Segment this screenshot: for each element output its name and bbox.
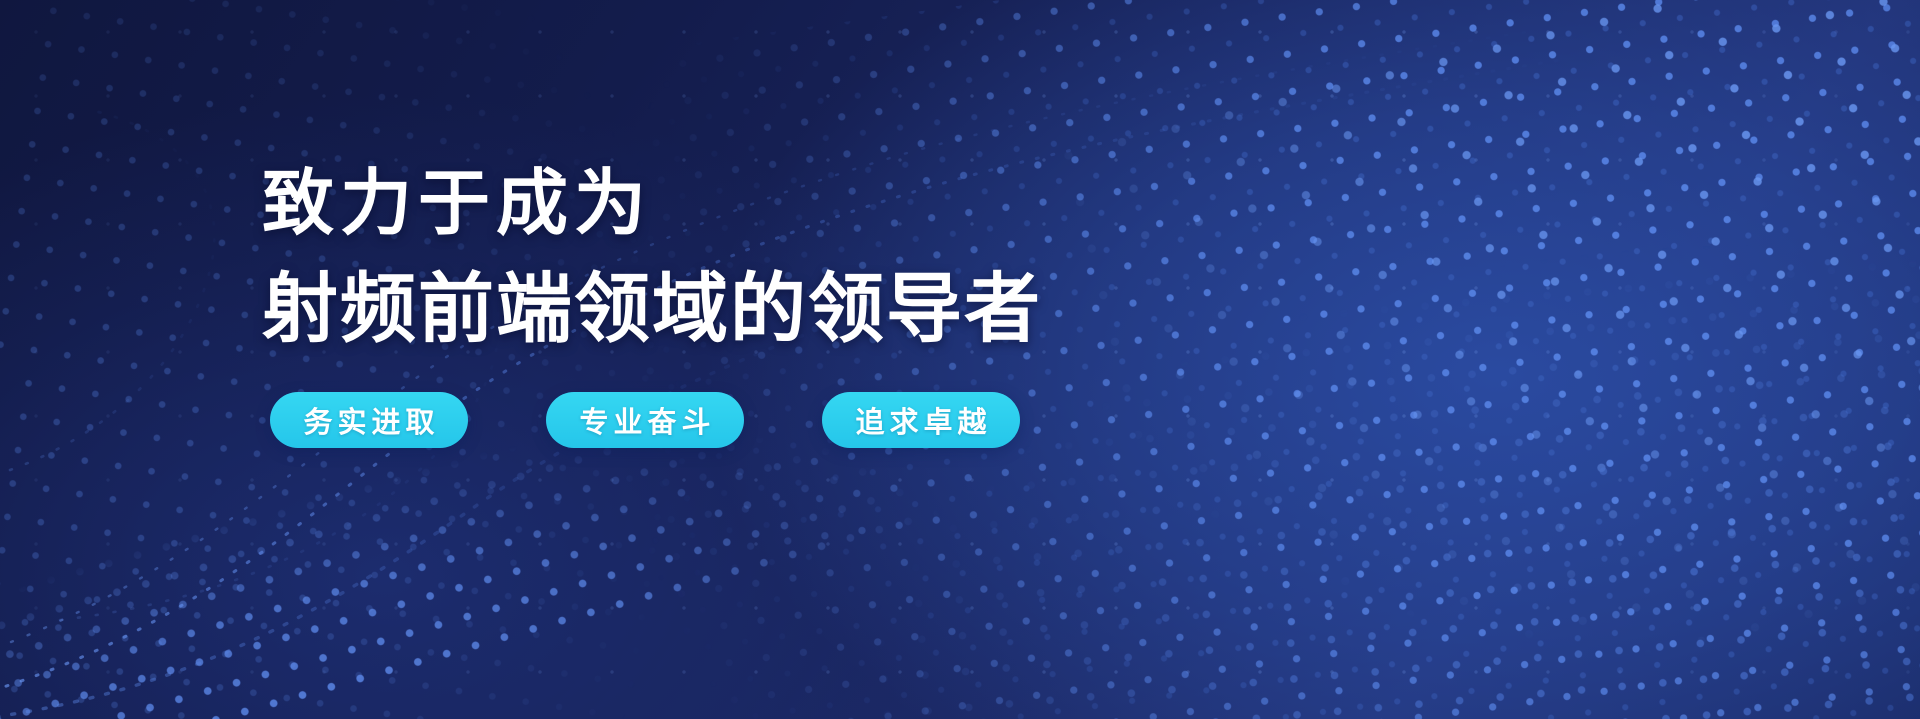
slogan-tag-wushijinqu[interactable]: 务实进取 — [270, 392, 468, 448]
slogan-tag-zhuanyefendou[interactable]: 专业奋斗 — [546, 392, 744, 448]
slogan-tag-list: 务实进取 专业奋斗 追求卓越 — [270, 392, 1042, 448]
headline-line-2: 射频前端领域的领导者 — [262, 272, 1042, 348]
banner-content: 致力于成为 射频前端领域的领导者 务实进取 专业奋斗 追求卓越 — [262, 168, 1042, 448]
slogan-tag-zhuiqiuzhuoyue[interactable]: 追求卓越 — [822, 392, 1020, 448]
hero-banner: 致力于成为 射频前端领域的领导者 务实进取 专业奋斗 追求卓越 — [0, 0, 1920, 719]
headline-line-1: 致力于成为 — [262, 168, 1042, 240]
